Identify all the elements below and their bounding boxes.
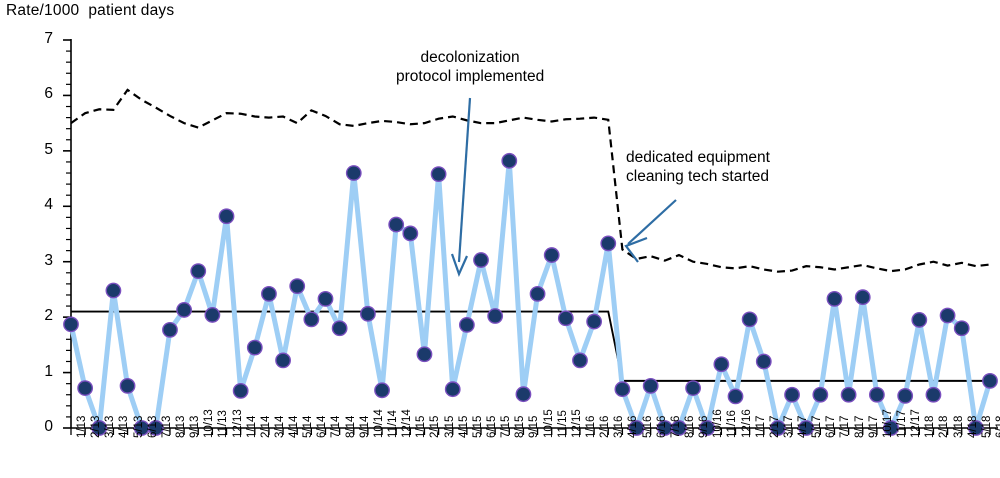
x-tick-label: 10/13	[203, 409, 215, 438]
data-point-marker	[912, 313, 926, 327]
x-tick-label: 9/13	[189, 416, 201, 438]
x-tick-label: 2/16	[599, 416, 611, 438]
data-point-marker	[460, 318, 474, 332]
x-tick-label: 4/17	[797, 416, 809, 438]
x-tick-label: 6/13	[147, 416, 159, 438]
x-tick-label: 5/13	[133, 416, 145, 438]
data-point-marker	[361, 307, 375, 321]
annotation-arrows	[452, 98, 676, 274]
x-tick-label: 3/18	[953, 416, 965, 438]
data-point-marker	[559, 311, 573, 325]
data-point-marker	[955, 321, 969, 335]
annotation-cleaning-tech: dedicated equipment cleaning tech starte…	[626, 148, 770, 186]
y-tick-label: 4	[31, 196, 53, 214]
ucl-polyline	[71, 90, 990, 272]
x-tick-label: 1/15	[415, 416, 427, 438]
x-tick-label: 1/13	[76, 416, 88, 438]
data-point-marker	[742, 312, 756, 326]
x-tick-label: 9/17	[868, 416, 880, 438]
data-point-marker	[856, 290, 870, 304]
x-tick-label: 7/16	[670, 416, 682, 438]
y-tick-label: 0	[31, 418, 53, 436]
x-tick-label: 4/16	[627, 416, 639, 438]
data-point-marker	[474, 253, 488, 267]
data-point-marker	[446, 382, 460, 396]
x-tick-label: 4/13	[118, 416, 130, 438]
data-point-marker	[332, 321, 346, 335]
x-tick-label: 11/16	[726, 410, 738, 438]
data-point-marker	[403, 226, 417, 240]
data-point-marker	[205, 308, 219, 322]
x-tick-label: 8/15	[514, 416, 526, 438]
data-point-marker	[940, 308, 954, 322]
data-point-marker	[64, 317, 78, 331]
y-tick-label: 5	[31, 141, 53, 159]
y-tick-label: 7	[31, 30, 53, 48]
data-point-marker	[262, 287, 276, 301]
x-tick-label: 8/17	[854, 416, 866, 438]
data-point-marker	[601, 236, 615, 250]
x-tick-label: 2/17	[769, 416, 781, 438]
x-tick-label: 10/16	[712, 409, 724, 438]
y-tick-label: 2	[31, 307, 53, 325]
x-tick-label: 1/18	[924, 416, 936, 438]
data-point-marker	[785, 388, 799, 402]
x-tick-label: 5/14	[302, 416, 314, 438]
chart-page: Rate/1000 patient days decolonization pr…	[0, 0, 1000, 478]
x-tick-label: 12/13	[232, 409, 244, 438]
data-point-marker	[926, 388, 940, 402]
x-tick-label: 11/13	[217, 410, 229, 438]
x-tick-label: 6/14	[316, 416, 328, 438]
annotation-decolonization: decolonization protocol implemented	[396, 48, 544, 86]
data-point-marker	[389, 217, 403, 231]
data-point-marker	[615, 382, 629, 396]
data-point-marker	[163, 323, 177, 337]
data-point-marker	[248, 340, 262, 354]
data-point-marker	[870, 388, 884, 402]
data-point-marker	[587, 314, 601, 328]
data-point-marker	[841, 388, 855, 402]
x-tick-label: 7/17	[839, 416, 851, 438]
x-tick-label: 11/15	[557, 410, 569, 438]
x-tick-label: 5/17	[811, 416, 823, 438]
x-tick-label: 3/16	[613, 416, 625, 438]
data-point-marker	[417, 347, 431, 361]
data-point-marker	[545, 248, 559, 262]
x-tick-label: 9/16	[698, 416, 710, 438]
data-point-marker	[375, 383, 389, 397]
x-tick-label: 7/14	[330, 416, 342, 438]
data-point-marker	[728, 389, 742, 403]
y-tick-label: 1	[31, 363, 53, 381]
data-point-marker	[290, 279, 304, 293]
x-tick-label: 8/14	[345, 416, 357, 438]
data-point-marker	[516, 387, 530, 401]
x-tick-label: 2/18	[938, 416, 950, 438]
data-point-marker	[488, 309, 502, 323]
data-point-marker	[78, 381, 92, 395]
data-point-marker	[813, 388, 827, 402]
x-tick-label: 8/13	[175, 416, 187, 438]
data-point-marker	[757, 354, 771, 368]
x-tick-label: 12/15	[571, 409, 583, 438]
data-point-marker	[898, 389, 912, 403]
x-tick-label: 10/14	[373, 409, 385, 438]
x-tick-label: 6/15	[486, 416, 498, 438]
data-point-marker	[219, 209, 233, 223]
x-tick-label: 3/15	[444, 416, 456, 438]
x-tick-label: 9/15	[528, 416, 540, 438]
ucl-dashed-line	[71, 90, 990, 272]
x-tick-label: 2/14	[260, 416, 272, 438]
data-point-marker	[120, 379, 134, 393]
x-tick-label: 1/14	[246, 416, 258, 438]
data-point-marker	[686, 381, 700, 395]
x-tick-label: 3/17	[783, 416, 795, 438]
x-tick-label: 7/15	[500, 416, 512, 438]
data-point-marker	[983, 374, 997, 388]
x-tick-label: 12/17	[910, 409, 922, 438]
x-tick-label: 12/14	[401, 409, 413, 438]
x-tick-label: 3/13	[104, 416, 116, 438]
data-point-marker	[530, 287, 544, 301]
y-tick-label: 3	[31, 252, 53, 270]
data-point-marker	[573, 353, 587, 367]
x-tick-label: 5/18	[981, 416, 993, 438]
x-tick-label: 6/17	[825, 416, 837, 438]
data-point-marker	[643, 379, 657, 393]
data-point-marker	[276, 353, 290, 367]
data-point-marker	[502, 154, 516, 168]
axes-group	[63, 39, 998, 435]
x-tick-label: 2/13	[90, 416, 102, 438]
x-tick-label: 1/17	[755, 416, 767, 438]
x-tick-label: 11/17	[896, 410, 908, 438]
data-point-marker	[233, 384, 247, 398]
data-point-marker	[827, 292, 841, 306]
x-tick-label: 2/15	[429, 416, 441, 438]
x-tick-label: 9/14	[359, 416, 371, 438]
data-point-marker	[191, 264, 205, 278]
x-tick-label: 6/18	[995, 416, 1000, 438]
x-tick-label: 4/14	[288, 416, 300, 438]
x-tick-label: 7/13	[161, 416, 173, 438]
x-tick-label: 4/18	[967, 416, 979, 438]
decolonization-arrow	[459, 98, 470, 262]
data-point-marker	[304, 312, 318, 326]
x-tick-label: 12/16	[741, 409, 753, 438]
x-tick-label: 1/16	[585, 416, 597, 438]
y-tick-label: 6	[31, 85, 53, 103]
x-tick-label: 10/17	[882, 409, 894, 438]
x-tick-label: 8/16	[684, 416, 696, 438]
x-tick-label: 6/16	[656, 416, 668, 438]
data-point-marker	[177, 303, 191, 317]
x-tick-label: 3/14	[274, 416, 286, 438]
x-tick-label: 11/14	[387, 410, 399, 438]
data-point-marker	[347, 166, 361, 180]
cleaning-tech-arrow	[628, 200, 676, 244]
x-tick-label: 5/15	[472, 416, 484, 438]
x-tick-label: 5/16	[642, 416, 654, 438]
data-point-marker	[431, 167, 445, 181]
x-tick-label: 4/15	[458, 416, 470, 438]
data-point-marker	[318, 292, 332, 306]
data-point-marker	[106, 283, 120, 297]
data-point-marker	[714, 357, 728, 371]
x-tick-label: 10/15	[543, 409, 555, 438]
